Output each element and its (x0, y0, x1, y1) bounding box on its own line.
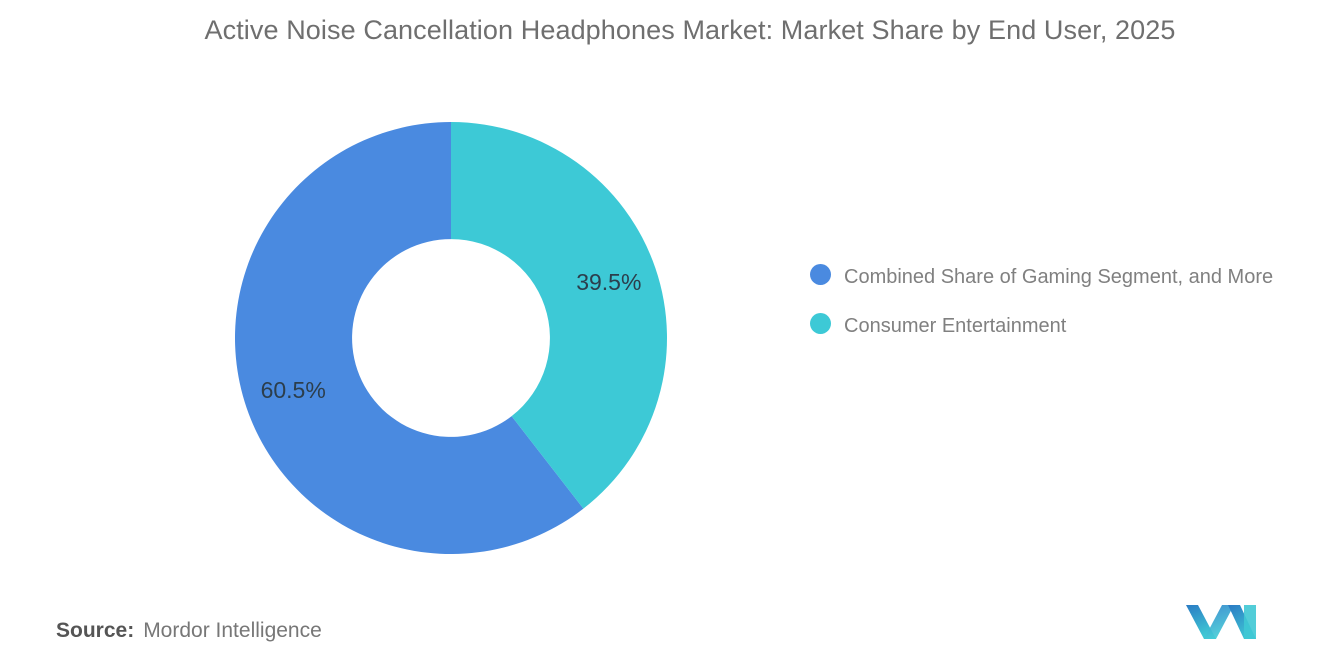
data-label-combined-share: 60.5% (261, 377, 326, 403)
chart-title: Active Noise Cancellation Headphones Mar… (160, 10, 1220, 51)
data-label-consumer-entertainment: 39.5% (576, 269, 641, 295)
legend-item-consumer-entertainment[interactable]: Consumer Entertainment (810, 311, 1300, 342)
legend-item-label: Consumer Entertainment (844, 311, 1066, 342)
chart-plot-area: 60.5% 39.5% (0, 95, 780, 575)
legend-color-swatch-icon (810, 313, 831, 334)
donut-chart: 60.5% 39.5% (0, 95, 780, 575)
source-attribution: Source: Mordor Intelligence (56, 619, 322, 643)
legend-item-label: Combined Share of Gaming Segment, and Mo… (844, 262, 1273, 293)
mordor-intelligence-logo (1186, 599, 1256, 643)
chart-legend: Combined Share of Gaming Segment, and Mo… (810, 262, 1300, 360)
legend-color-swatch-icon (810, 264, 831, 285)
source-label: Source: (56, 619, 134, 643)
mi-monogram-icon (1186, 599, 1256, 643)
legend-item-combined-share-of-gaming-segment-and-more[interactable]: Combined Share of Gaming Segment, and Mo… (810, 262, 1300, 293)
source-value: Mordor Intelligence (143, 619, 322, 643)
